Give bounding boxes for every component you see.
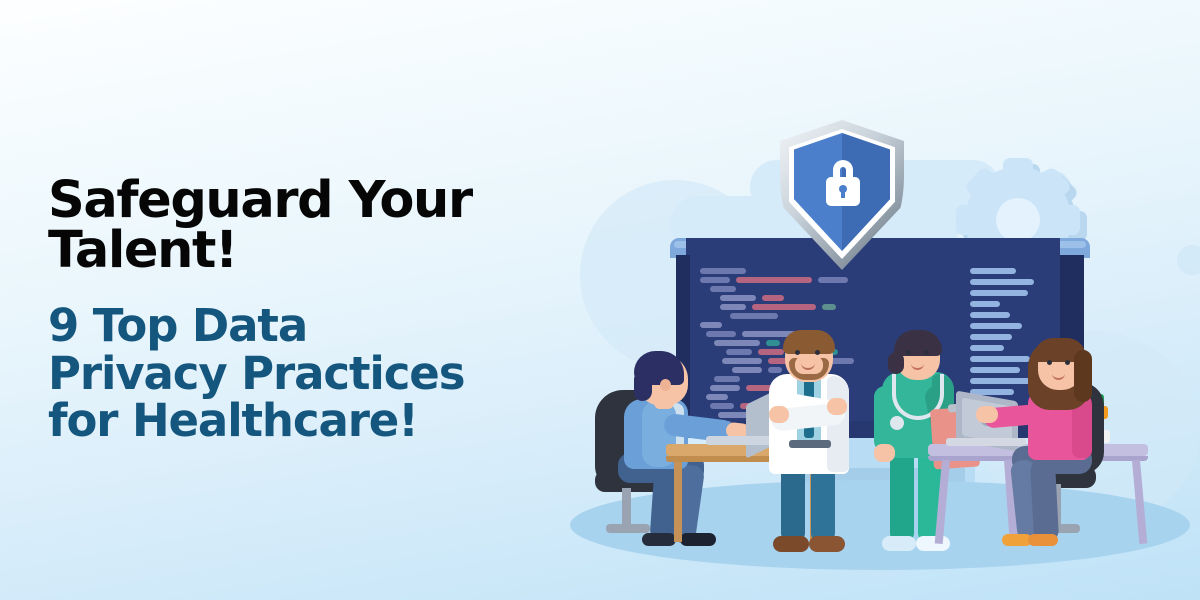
nurse-hair xyxy=(894,330,942,356)
code-line-segment xyxy=(710,286,736,292)
man-shoe xyxy=(680,533,716,546)
nurse-shoe-right xyxy=(916,536,950,551)
woman-shin-2 xyxy=(1030,459,1059,542)
nurse-shoe-left xyxy=(882,536,916,551)
woman-eye-right xyxy=(1065,360,1070,365)
page-title: Safeguard Your Talent! xyxy=(48,176,568,276)
wooden-desk-leg-left xyxy=(674,462,682,542)
code-line-segment xyxy=(736,277,812,283)
man-ear xyxy=(660,379,671,391)
doctor-shoe-right xyxy=(809,536,845,552)
code-line-segment xyxy=(720,295,756,301)
doctor-hair xyxy=(783,330,835,354)
list-line xyxy=(970,290,1028,296)
woman-eye-left xyxy=(1047,360,1052,365)
copy-block: Safeguard Your Talent! 9 Top Data Privac… xyxy=(48,176,568,445)
code-line-segment xyxy=(818,277,848,283)
doctor xyxy=(755,340,865,560)
doctor-hand-left xyxy=(769,406,789,423)
doctor-shoe-left xyxy=(773,536,809,552)
man-hair-side xyxy=(634,371,652,401)
man-shoe-2 xyxy=(642,533,676,546)
list-line xyxy=(970,301,1000,307)
nurse-leg-left xyxy=(890,450,914,542)
list-line xyxy=(970,323,1022,329)
list-line xyxy=(970,268,1016,274)
code-line-segment xyxy=(706,331,736,337)
nurse-hair-bun xyxy=(888,352,904,374)
banner-root: Safeguard Your Talent! 9 Top Data Privac… xyxy=(0,0,1200,600)
padlock-keyhole-slot xyxy=(841,190,845,198)
nurse-eye-right xyxy=(924,350,929,355)
code-line-segment xyxy=(822,304,836,310)
code-line-segment xyxy=(700,268,746,274)
doctor-belt xyxy=(789,440,831,448)
list-line xyxy=(970,334,1012,340)
seated-woman xyxy=(990,348,1120,548)
doctor-eye-right xyxy=(815,350,820,355)
code-line-segment xyxy=(700,322,722,328)
page-subtitle: 9 Top Data Privacy Practices for Healthc… xyxy=(48,302,568,445)
doctor-hand-right xyxy=(827,398,847,415)
list-line xyxy=(970,279,1034,285)
security-shield xyxy=(780,120,904,270)
list-line xyxy=(970,312,1010,318)
code-line-segment xyxy=(714,340,760,346)
cloud-dot-small xyxy=(1177,245,1200,275)
illustration xyxy=(560,0,1200,600)
code-line-segment xyxy=(730,313,778,319)
doctor-eye-left xyxy=(795,350,800,355)
code-line-segment xyxy=(720,304,746,310)
code-line-segment xyxy=(762,295,784,301)
woman-shoe-2 xyxy=(1028,534,1058,546)
woman-hand xyxy=(976,406,998,423)
stethoscope-bell xyxy=(890,416,904,430)
woman-hair-side xyxy=(1074,350,1092,402)
nurse-hand-left xyxy=(874,444,895,462)
code-line-segment xyxy=(700,277,730,283)
nurse-eye-left xyxy=(906,350,911,355)
code-line-segment xyxy=(752,304,816,310)
